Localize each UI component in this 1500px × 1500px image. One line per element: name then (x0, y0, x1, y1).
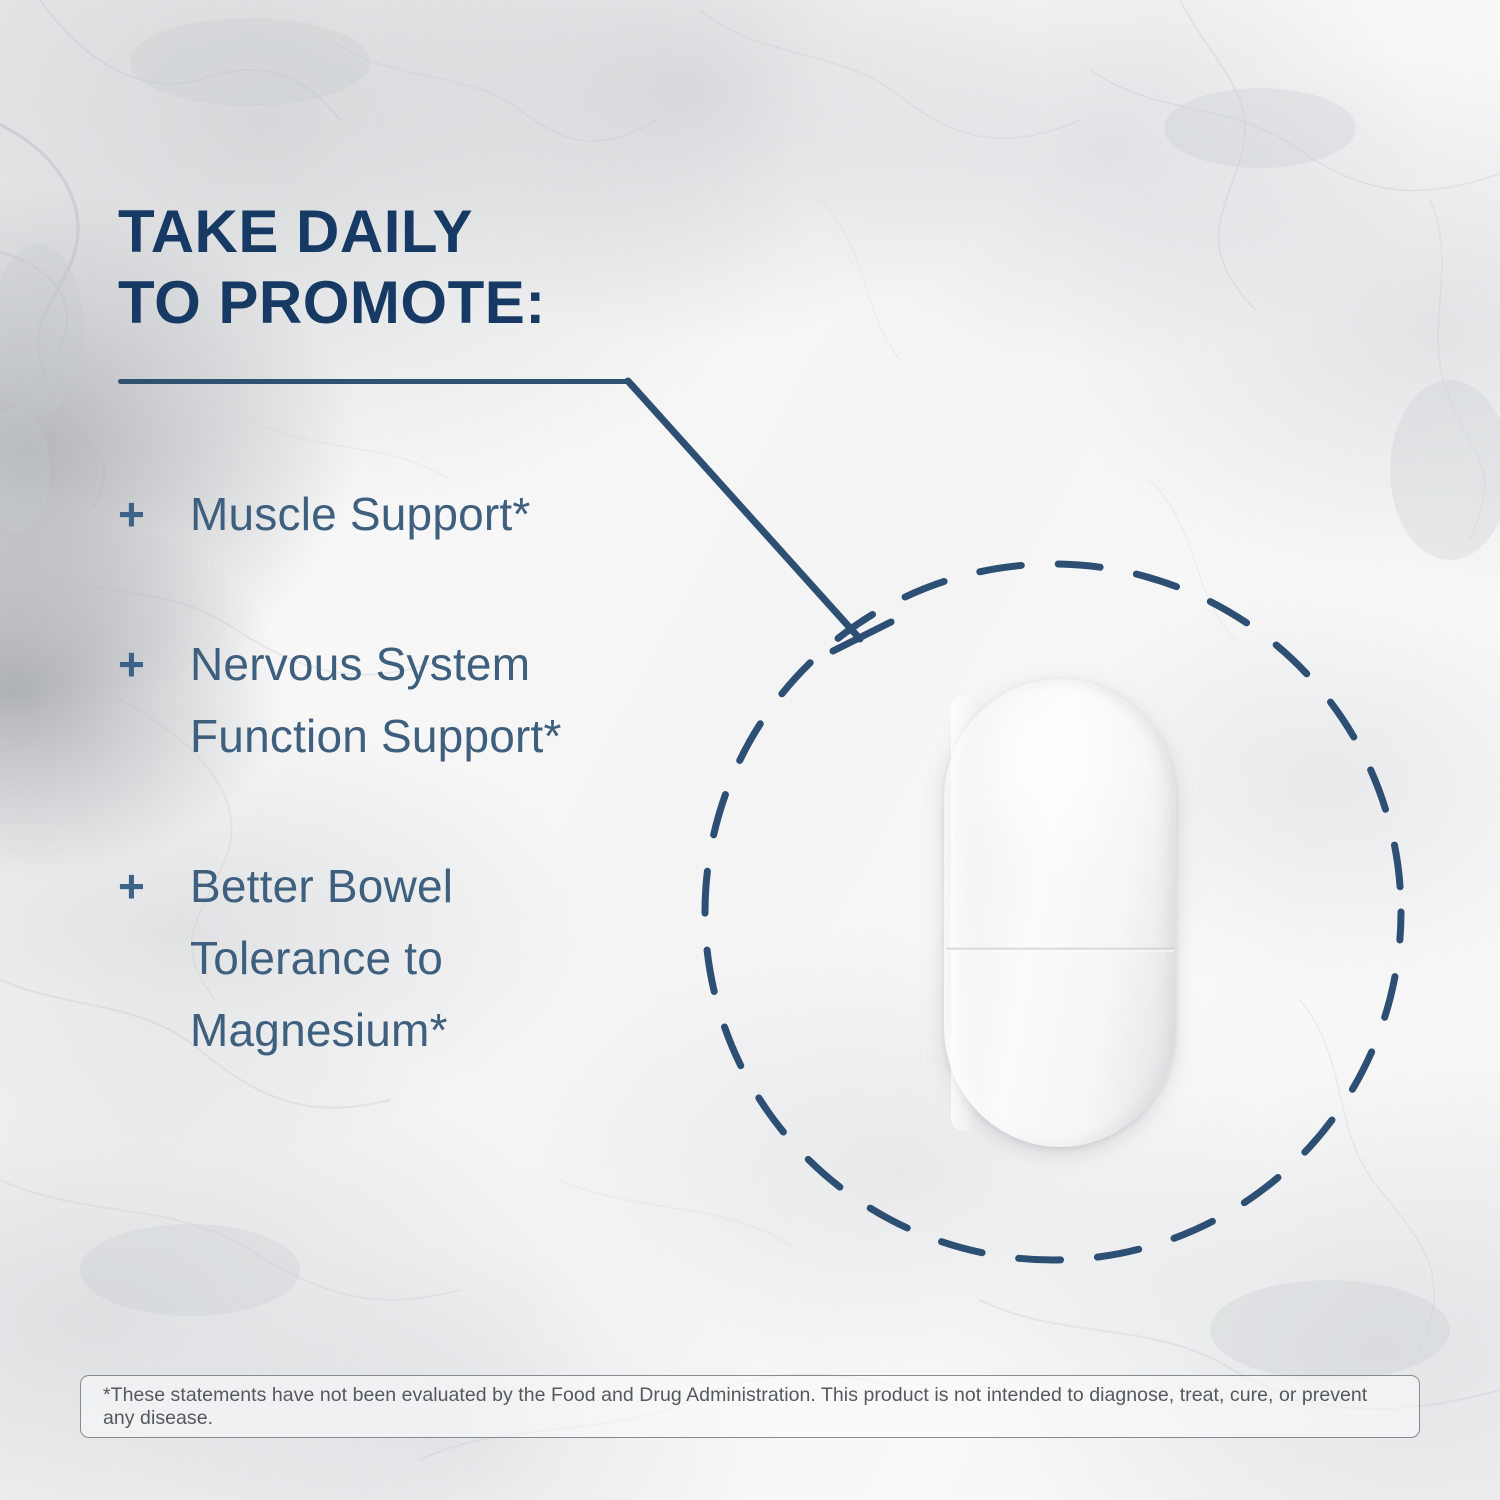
benefit-list: + Muscle Support* + Nervous System Funct… (118, 478, 758, 1066)
page-title-line-1: TAKE DAILY (118, 196, 738, 267)
callout-leader-tick (833, 622, 891, 651)
tablet-edge-highlight (951, 695, 977, 1131)
list-item: + Nervous System Function Support* (118, 628, 758, 772)
list-item: + Better Bowel Tolerance to Magnesium* (118, 850, 758, 1066)
disclaimer-text: *These statements have not been evaluate… (103, 1384, 1397, 1430)
list-item: + Muscle Support* (118, 478, 758, 550)
plus-icon: + (118, 628, 190, 700)
tablet-score-line (946, 947, 1174, 952)
benefit-label: Muscle Support* (190, 478, 531, 550)
benefit-label: Better Bowel Tolerance to Magnesium* (190, 850, 453, 1066)
page-title-line-2: TO PROMOTE: (118, 267, 738, 338)
benefit-label: Nervous System Function Support* (190, 628, 562, 772)
plus-icon: + (118, 478, 190, 550)
page-title: TAKE DAILY TO PROMOTE: (118, 196, 738, 338)
product-benefits-graphic: TAKE DAILY TO PROMOTE: + Muscle Support*… (0, 0, 1500, 1500)
disclaimer-box: *These statements have not been evaluate… (80, 1375, 1420, 1438)
product-tablet-image (944, 679, 1176, 1147)
heading-underline-rule (118, 379, 630, 384)
plus-icon: + (118, 850, 190, 922)
